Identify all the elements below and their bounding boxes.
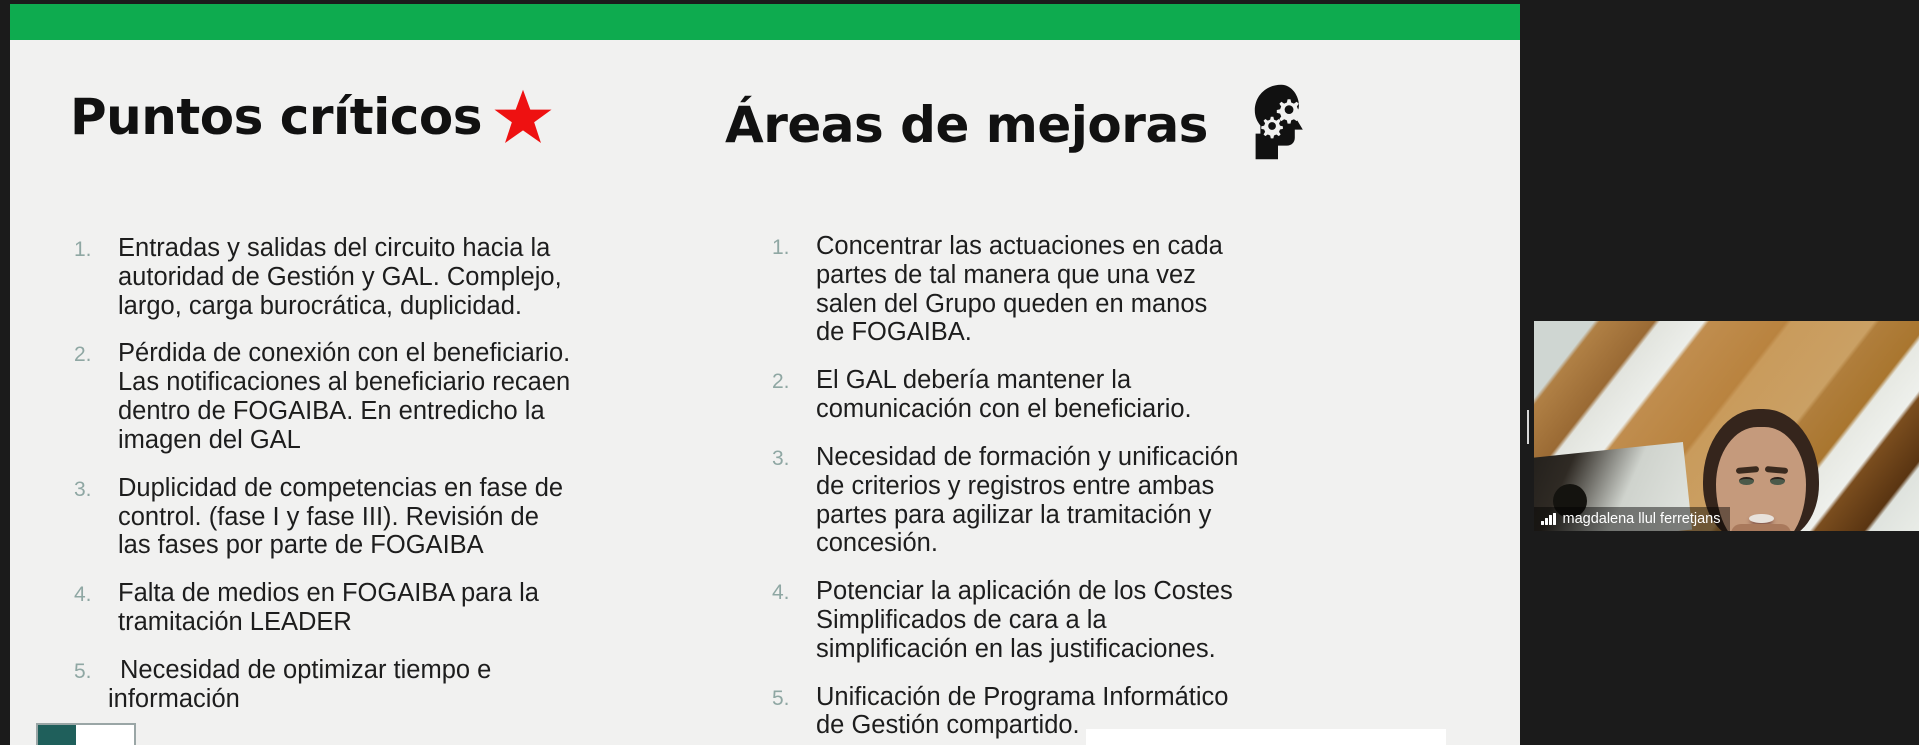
list-item[interactable]: 3. Duplicidad de competencias en fase de… xyxy=(74,474,574,560)
list-item-number: 4. xyxy=(772,577,816,608)
list-item-number: 5. xyxy=(772,683,816,714)
column-heading-critical-points: Puntos críticos xyxy=(70,86,554,148)
heading-text-areas-de-mejoras: Áreas de mejoras xyxy=(725,99,1208,152)
list-item-number: 4. xyxy=(74,579,118,610)
list-item[interactable]: 4. Potenciar la aplicación de los Costes… xyxy=(772,577,1242,663)
list-item[interactable]: 5. Necesidad de optimizar tiempo e infor… xyxy=(74,656,574,714)
critical-points-list: 1. Entradas y salidas del circuito hacia… xyxy=(74,234,574,732)
list-item[interactable]: 1. Entradas y salidas del circuito hacia… xyxy=(74,234,574,320)
list-item-number: 1. xyxy=(772,232,816,263)
list-item-text: Pérdida de conexión con el beneficiario.… xyxy=(118,339,574,454)
list-item-text: El GAL debería mantener la comunicación … xyxy=(816,366,1242,424)
slide-footer-chip xyxy=(36,723,136,745)
list-item[interactable]: 1. Concentrar las actuaciones en cada pa… xyxy=(772,232,1242,347)
red-star-icon xyxy=(492,86,554,148)
slide-footer-band xyxy=(1086,729,1446,745)
list-item[interactable]: 4. Falta de medios en FOGAIBA para la tr… xyxy=(74,579,574,637)
presentation-slide[interactable]: Puntos críticos Áreas de mejoras 1. xyxy=(10,4,1520,745)
heading-text-puntos-criticos: Puntos críticos xyxy=(70,91,482,144)
list-item-number: 1. xyxy=(74,234,118,265)
list-item-number: 2. xyxy=(74,339,118,370)
participant-video-panel: magdalena llul ferretjans xyxy=(1520,0,1919,745)
list-item-text: Potenciar la aplicación de los Costes Si… xyxy=(816,577,1242,663)
meeting-screen-share-view: Puntos críticos Áreas de mejoras 1. xyxy=(0,0,1919,745)
participant-name-bar: magdalena llul ferretjans xyxy=(1534,507,1730,531)
improvement-areas-list: 1. Concentrar las actuaciones en cada pa… xyxy=(772,232,1242,745)
column-heading-improvement-areas: Áreas de mejoras xyxy=(725,86,1322,164)
list-item-text: Concentrar las actuaciones en cada parte… xyxy=(816,232,1242,347)
handle-bar xyxy=(1527,410,1529,444)
list-item-text: Necesidad de optimizar tiempo e informac… xyxy=(108,656,574,714)
slide-accent-bar xyxy=(10,4,1520,40)
list-item-text: Duplicidad de competencias en fase de co… xyxy=(118,474,574,560)
head-with-gears-icon xyxy=(1242,80,1322,164)
list-item[interactable]: 3. Necesidad de formación y unificación … xyxy=(772,443,1242,558)
participant-video-tile[interactable]: magdalena llul ferretjans xyxy=(1534,321,1919,531)
list-item-number: 3. xyxy=(772,443,816,474)
list-item-number: 2. xyxy=(772,366,816,397)
participant-name-label: magdalena llul ferretjans xyxy=(1563,512,1721,527)
list-item-text: Entradas y salidas del circuito hacia la… xyxy=(118,234,574,320)
list-item[interactable]: 2. El GAL debería mantener la comunicaci… xyxy=(772,366,1242,424)
list-item-text: Falta de medios en FOGAIBA para la trami… xyxy=(118,579,574,637)
signal-bars-icon xyxy=(1541,513,1556,525)
video-feed-image xyxy=(1534,321,1919,531)
list-item[interactable]: 2. Pérdida de conexión con el beneficiar… xyxy=(74,339,574,454)
list-item-number: 3. xyxy=(74,474,118,505)
list-item-text: Necesidad de formación y unificación de … xyxy=(816,443,1242,558)
